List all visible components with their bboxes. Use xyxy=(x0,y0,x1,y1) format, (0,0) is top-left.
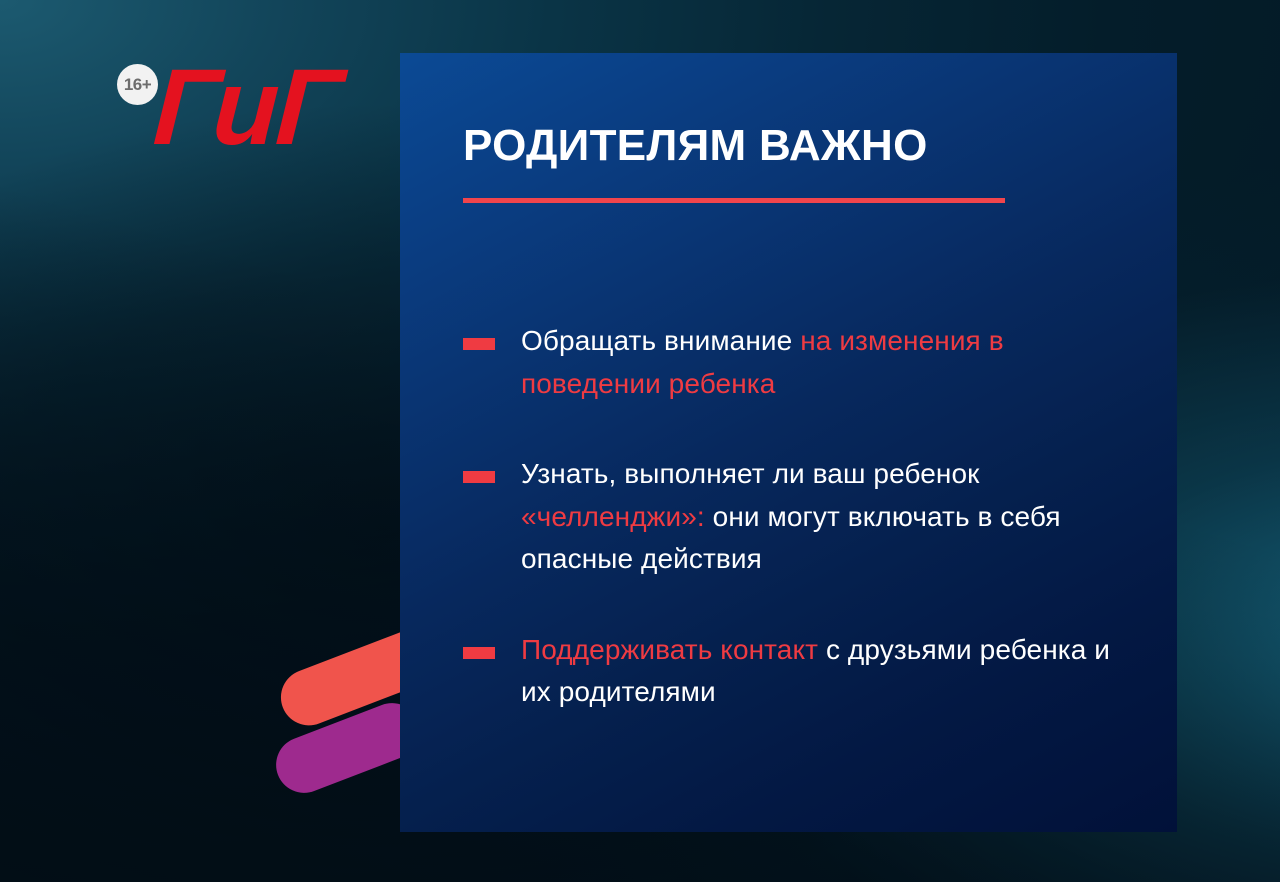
slide-root: 16+ ГиГ РОДИТЕЛЯМ ВАЖНО Обращать внимани… xyxy=(0,0,1280,882)
bullet-marker-icon xyxy=(463,338,495,350)
bullet-text: Обращать внимание на изменения в поведен… xyxy=(521,320,1123,405)
bullet-item: Узнать, выполняет ли ваш ребенок «челлен… xyxy=(463,453,1123,581)
bullet-text-segment: Обращать внимание xyxy=(521,325,800,356)
bullet-text-segment: «челленджи»: xyxy=(521,501,705,532)
bullet-item: Поддерживать контакт с друзьями ребенка … xyxy=(463,629,1123,714)
logo-wordmark: ГиГ xyxy=(151,53,342,161)
title-underline-rule xyxy=(463,198,1005,203)
bullet-marker-icon xyxy=(463,471,495,483)
bullet-text: Узнать, выполняет ли ваш ребенок «челлен… xyxy=(521,453,1123,581)
bullet-text-segment: Поддерживать контакт xyxy=(521,634,818,665)
bullet-marker-icon xyxy=(463,647,495,659)
content-card: РОДИТЕЛЯМ ВАЖНО Обращать внимание на изм… xyxy=(400,53,1177,832)
bullet-item: Обращать внимание на изменения в поведен… xyxy=(463,320,1123,405)
age-rating-badge: 16+ xyxy=(117,64,158,105)
bullet-text: Поддерживать контакт с друзьями ребенка … xyxy=(521,629,1123,714)
bullet-text-segment: Узнать, выполняет ли ваш ребенок xyxy=(521,458,980,489)
page-title: РОДИТЕЛЯМ ВАЖНО xyxy=(463,123,1113,169)
card-header: РОДИТЕЛЯМ ВАЖНО xyxy=(463,123,1113,203)
bullet-list: Обращать внимание на изменения в поведен… xyxy=(463,320,1123,714)
brand-logo: 16+ ГиГ xyxy=(110,57,340,172)
